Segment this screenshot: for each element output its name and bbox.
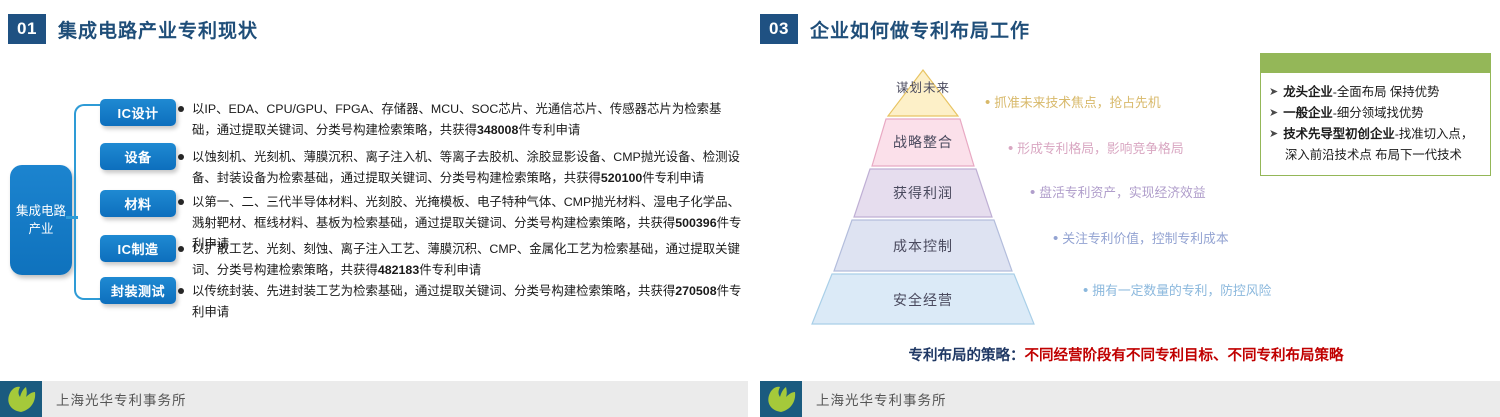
strategy-item[interactable]: ➤ 技术先导型初创企业-找准切入点， (1269, 124, 1482, 144)
green-band (1260, 53, 1491, 73)
bullet-count: 500396 (675, 216, 716, 230)
hub-label: 集成电路产业 (10, 202, 72, 238)
strategy-bold: 一般企业 (1283, 106, 1333, 120)
bullet-row: 以传统封装、先进封装工艺为检索基础，通过提取关键词、分类号构建检索策略，共获得2… (178, 281, 744, 323)
conclusion-line: 专利布局的策略：不同经营阶段有不同专利目标、不同专利布局策略 (752, 344, 1500, 365)
bullet-count: 482183 (378, 263, 419, 277)
strategy-rest: -全面布局 保持优势 (1333, 85, 1440, 99)
strategy-rest: -细分领域找优势 (1333, 106, 1424, 120)
arrow-bullet-icon: ➤ (1269, 103, 1278, 123)
category-box-packaging-test[interactable]: 封装测试 (100, 277, 176, 304)
strategy-rest: -找准切入点， (1395, 127, 1473, 141)
bullet-dot-icon: • (1083, 282, 1088, 299)
ginkgo-leaf-icon (760, 381, 802, 417)
bullet-post: 件专利申请 (518, 123, 580, 137)
strategy-item[interactable]: ➤ 龙头企业-全面布局 保持优势 (1269, 82, 1482, 102)
bullet-count: 520100 (601, 171, 642, 185)
strategy-bold: 技术先导型初创企业 (1283, 127, 1395, 141)
bullet-pre: 以传统封装、先进封装工艺为检索基础，通过提取关键词、分类号构建检索策略，共获得 (192, 284, 675, 298)
green-box-body: ➤ 龙头企业-全面布局 保持优势 ➤ 一般企业-细分领域找优势 ➤ 技术先导型初… (1260, 73, 1491, 176)
bullet-post: 件专利申请 (419, 263, 481, 277)
bullet-dot-icon (178, 199, 184, 205)
bullet-row: 以IP、EDA、CPU/GPU、FPGA、存储器、MCU、SOC芯片、光通信芯片… (178, 99, 744, 141)
bullet-pre: 以第一、二、三代半导体材料、光刻胶、光掩模板、电子特种气体、CMP抛光材料、湿电… (192, 195, 740, 230)
section-header-03: 03 企业如何做专利布局工作 (760, 14, 1030, 44)
category-box-materials[interactable]: 材料 (100, 190, 176, 217)
slide-right: 03 企业如何做专利布局工作 谋划未来 战略整合 获得利润 成本控制 安全经营 … (752, 0, 1500, 417)
strategy-item[interactable]: ➤ 一般企业-细分领域找优势 (1269, 103, 1482, 123)
category-box-ic-design[interactable]: IC设计 (100, 99, 176, 126)
bullet-text: 以蚀刻机、光刻机、薄膜沉积、离子注入机、等离子去胶机、涂胶显影设备、CMP抛光设… (192, 147, 744, 189)
strategy-text: 一般企业-细分领域找优势 (1283, 103, 1423, 123)
slide-left: 01 集成电路产业专利现状 集成电路产业 IC设计 设备 材料 IC制造 封装测… (0, 0, 750, 417)
section-title: 企业如何做专利布局工作 (810, 16, 1030, 43)
pyramid-level-3-label: 获得利润 (788, 183, 1058, 203)
footer-left: 上海光华专利事务所 (0, 381, 748, 417)
category-label: IC设计 (117, 103, 158, 122)
pyramid-bullet-text: 盘活专利资产，实现经济效益 (1039, 185, 1205, 200)
category-label: 材料 (124, 194, 151, 213)
section-header-01: 01 集成电路产业专利现状 (8, 14, 258, 44)
bullet-text: 以IP、EDA、CPU/GPU、FPGA、存储器、MCU、SOC芯片、光通信芯片… (192, 99, 744, 141)
footer-company-name: 上海光华专利事务所 (56, 389, 187, 409)
strategy-text: 龙头企业-全面布局 保持优势 (1283, 82, 1439, 102)
ginkgo-leaf-shape (765, 385, 797, 413)
pyramid-bullet-text: 拥有一定数量的专利，防控风险 (1092, 283, 1271, 298)
bullet-count: 348008 (477, 123, 518, 137)
section-number-badge: 01 (8, 14, 46, 44)
arrow-bullet-icon: ➤ (1269, 124, 1278, 144)
brace-connector (74, 104, 102, 300)
footer-right: 上海光华专利事务所 (760, 381, 1500, 417)
pyramid-bullet-1: •抓准未来技术焦点，抢占先机 (985, 92, 1161, 111)
ginkgo-leaf-shape (5, 385, 37, 413)
bullet-text: 以扩散工艺、光刻、刻蚀、离子注入工艺、薄膜沉积、CMP、金属化工艺为检索基础，通… (192, 239, 744, 281)
enterprise-strategy-box: ➤ 龙头企业-全面布局 保持优势 ➤ 一般企业-细分领域找优势 ➤ 技术先导型初… (1260, 53, 1491, 176)
footer-company-name: 上海光华专利事务所 (816, 389, 947, 409)
bullet-count: 270508 (675, 284, 716, 298)
bullet-dot-icon: • (1053, 230, 1058, 247)
strategy-text: 技术先导型初创企业-找准切入点， (1283, 124, 1473, 144)
pyramid-bullet-4: •关注专利价值，控制专利成本 (1053, 228, 1229, 247)
bullet-dot-icon: • (985, 94, 990, 111)
pyramid-bullet-text: 抓准未来技术焦点，抢占先机 (994, 95, 1160, 110)
bullet-text: 以传统封装、先进封装工艺为检索基础，通过提取关键词、分类号构建检索策略，共获得2… (192, 281, 744, 323)
category-box-ic-manufacture[interactable]: IC制造 (100, 235, 176, 262)
bullet-dot-icon: • (1008, 140, 1013, 157)
category-label: 封装测试 (111, 281, 165, 300)
strategy-bold: 龙头企业 (1283, 85, 1333, 99)
bullet-row: 以扩散工艺、光刻、刻蚀、离子注入工艺、薄膜沉积、CMP、金属化工艺为检索基础，通… (178, 239, 744, 281)
category-box-equipment[interactable]: 设备 (100, 143, 176, 170)
pyramid-bullet-2: •形成专利格局，影响竞争格局 (1008, 138, 1184, 157)
brace-stem (66, 216, 78, 219)
bullet-post: 件专利申请 (642, 171, 704, 185)
pyramid-level-5-label: 安全经营 (788, 290, 1058, 310)
bullet-row: 以蚀刻机、光刻机、薄膜沉积、离子注入机、等离子去胶机、涂胶显影设备、CMP抛光设… (178, 147, 744, 189)
pyramid-bullet-5: •拥有一定数量的专利，防控风险 (1083, 280, 1271, 299)
strategy-continuation: 深入前沿技术点 布局下一代技术 (1269, 145, 1482, 165)
bullet-dot-icon: • (1030, 184, 1035, 201)
category-label: 设备 (124, 147, 151, 166)
category-label: IC制造 (117, 239, 158, 258)
pyramid-bullet-3: •盘活专利资产，实现经济效益 (1030, 182, 1206, 201)
conclusion-label: 专利布局的策略： (909, 348, 1025, 364)
bullet-dot-icon (178, 246, 184, 252)
bullet-pre: 以IP、EDA、CPU/GPU、FPGA、存储器、MCU、SOC芯片、光通信芯片… (192, 102, 721, 137)
pyramid-bullet-text: 关注专利价值，控制专利成本 (1062, 231, 1228, 246)
hub-node-ic-industry: 集成电路产业 (10, 165, 72, 275)
arrow-bullet-icon: ➤ (1269, 82, 1278, 102)
section-number-badge: 03 (760, 14, 798, 44)
ginkgo-leaf-icon (0, 381, 42, 417)
bullet-dot-icon (178, 154, 184, 160)
section-title: 集成电路产业专利现状 (58, 16, 258, 43)
bullet-dot-icon (178, 106, 184, 112)
conclusion-value: 不同经营阶段有不同专利目标、不同专利布局策略 (1025, 348, 1344, 364)
pyramid-bullet-text: 形成专利格局，影响竞争格局 (1017, 141, 1183, 156)
pyramid-level-4-label: 成本控制 (788, 236, 1058, 256)
bullet-dot-icon (178, 288, 184, 294)
